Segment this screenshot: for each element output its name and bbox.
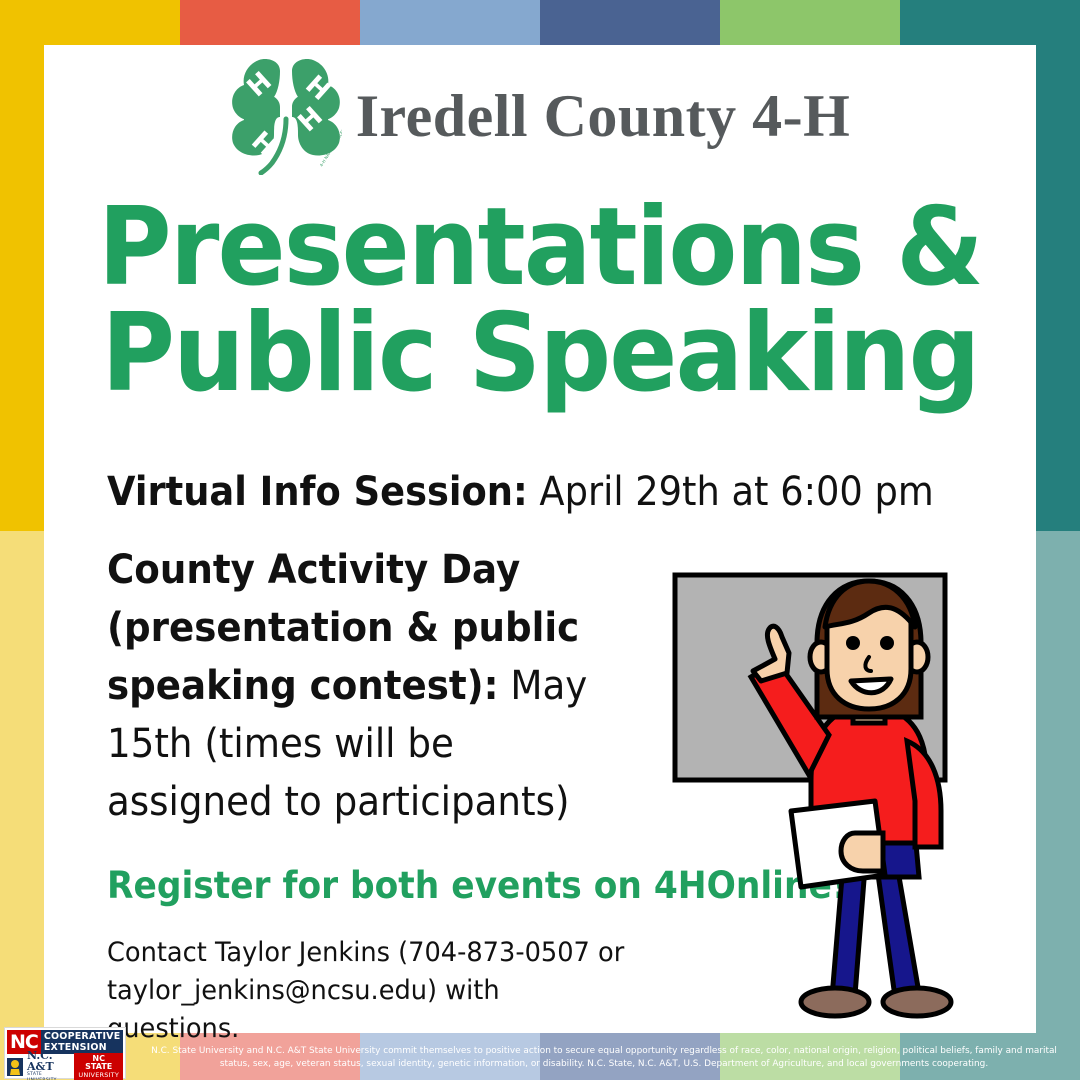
mouth <box>851 679 891 693</box>
nc-at-wordmark: N.C. A&T <box>27 1050 70 1072</box>
poster-canvas: H H H H 4-H NAME & EMBLEM Iredell County… <box>0 0 1080 1080</box>
page-title: Presentations & Public Speaking <box>79 195 1002 407</box>
content-card: H H H H 4-H NAME & EMBLEM Iredell County… <box>44 45 1036 1033</box>
band-swatch-green <box>720 0 900 45</box>
left-band-lower <box>0 531 44 1033</box>
band-swatch-red <box>180 0 360 45</box>
header-lockup: H H H H 4-H NAME & EMBLEM Iredell County… <box>44 57 1036 175</box>
nc-state-line-2: UNIVERSITY <box>78 1071 119 1079</box>
organization-title: Iredell County 4-H <box>356 86 851 146</box>
virtual-info-session-label: Virtual Info Session: <box>107 469 528 515</box>
right-band-upper <box>1036 0 1080 531</box>
nc-at-subtext: STATE UNIVERSITY <box>27 1072 70 1080</box>
virtual-info-session-value: April 29th at 6:00 pm <box>528 469 934 515</box>
shoe-left <box>801 988 869 1016</box>
eye-right <box>880 636 894 650</box>
band-swatch-navy <box>540 0 720 45</box>
nc-cooperative-extension-logo: NC COOPERATIVE EXTENSION N.C. A&T STATE … <box>4 1027 126 1079</box>
extension-line-1: COOPERATIVE <box>44 1031 121 1042</box>
presenter-at-board-illustration <box>669 565 1029 1035</box>
top-color-band <box>0 0 1080 45</box>
aggie-bulldog-icon <box>7 1058 23 1076</box>
left-band-upper <box>0 0 44 531</box>
virtual-info-session-line: Virtual Info Session: April 29th at 6:00… <box>107 469 917 515</box>
shoe-right <box>883 988 951 1016</box>
four-h-clover-icon: H H H H 4-H NAME & EMBLEM <box>230 57 342 175</box>
right-band-lower <box>1036 531 1080 1033</box>
contact-info: Contact Taylor Jenkins (704-873-0507 or … <box>107 934 639 1049</box>
nc-state-university-mark: NC STATE UNIVERSITY <box>74 1053 123 1080</box>
page-title-line2: Public Speaking <box>79 301 1002 407</box>
band-swatch-lightblue <box>360 0 540 45</box>
nc-state-line-1: NC STATE <box>78 1055 119 1071</box>
eye-left <box>846 636 860 650</box>
county-activity-day-paragraph: County Activity Day (presentation & publ… <box>107 541 591 831</box>
